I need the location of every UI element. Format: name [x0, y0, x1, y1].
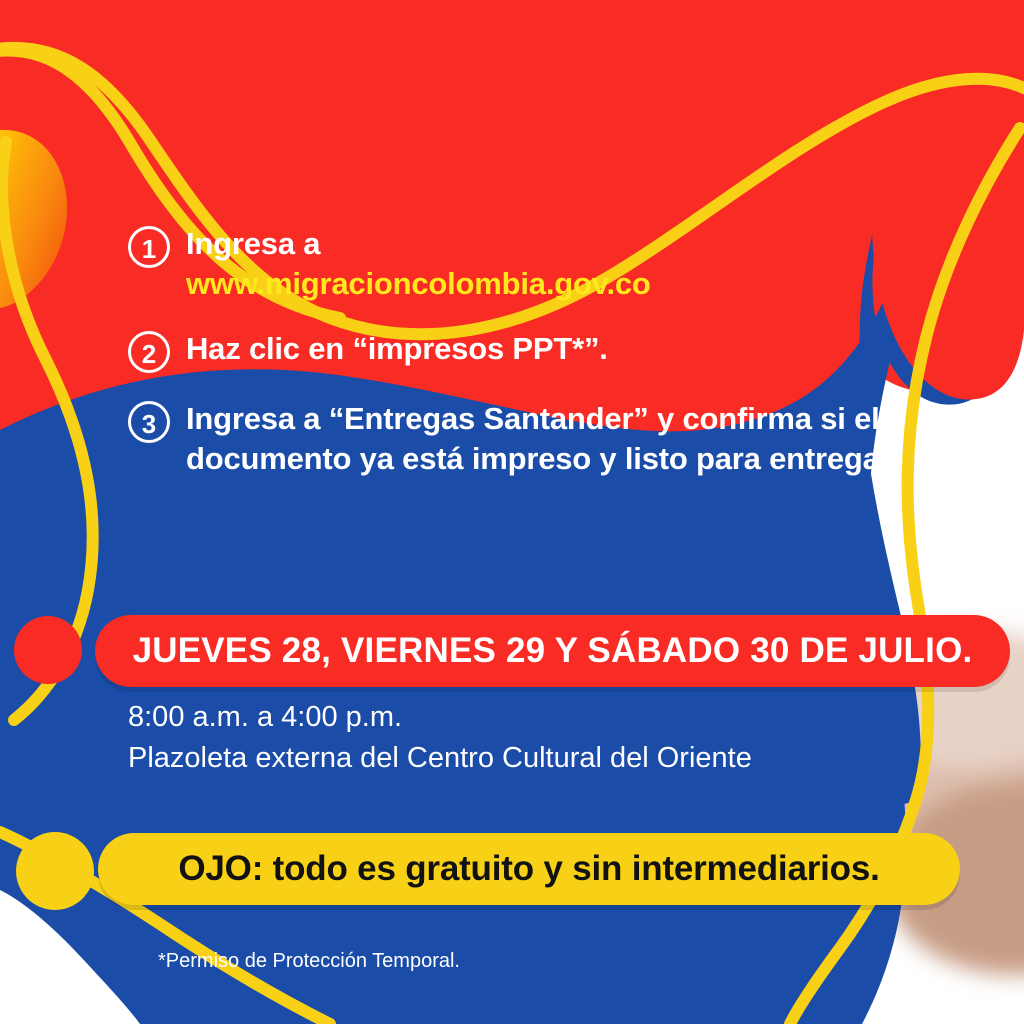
step-text: Ingresa a www.migracioncolombia.gov.co [186, 224, 651, 303]
list-item: 3 Ingresa a “Entregas Santander” y confi… [128, 399, 928, 478]
schedule-block: 8:00 a.m. a 4:00 p.m. Plazoleta externa … [128, 697, 752, 779]
note-banner-label: OJO: todo es gratuito y sin intermediari… [178, 849, 879, 889]
schedule-location: Plazoleta externa del Centro Cultural de… [128, 738, 752, 779]
list-item: 1 Ingresa a www.migracioncolombia.gov.co [128, 224, 928, 303]
date-banner: JUEVES 28, VIERNES 29 Y SÁBADO 30 DE JUL… [95, 615, 1010, 687]
step-text: Ingresa a “Entregas Santander” y confirm… [186, 399, 928, 478]
step-number-badge: 3 [128, 401, 170, 443]
note-banner-dot [16, 832, 94, 910]
step-number-badge: 2 [128, 331, 170, 373]
step-number-badge: 1 [128, 226, 170, 268]
steps-list: 1 Ingresa a www.migracioncolombia.gov.co… [128, 224, 928, 505]
date-banner-dot [14, 616, 82, 684]
poster-canvas: 1 Ingresa a www.migracioncolombia.gov.co… [0, 0, 1024, 1024]
list-item: 2 Haz clic en “impresos PPT*”. [128, 329, 928, 373]
note-banner: OJO: todo es gratuito y sin intermediari… [98, 833, 960, 905]
footnote: *Permiso de Protección Temporal. [158, 950, 460, 973]
step-text: Haz clic en “impresos PPT*”. [186, 329, 608, 369]
date-banner-label: JUEVES 28, VIERNES 29 Y SÁBADO 30 DE JUL… [133, 631, 973, 671]
step-text-line: Ingresa a [186, 226, 320, 261]
migracion-colombia-url[interactable]: www.migracioncolombia.gov.co [186, 264, 651, 304]
schedule-hours: 8:00 a.m. a 4:00 p.m. [128, 697, 752, 738]
poster-content: 1 Ingresa a www.migracioncolombia.gov.co… [0, 0, 1024, 1024]
